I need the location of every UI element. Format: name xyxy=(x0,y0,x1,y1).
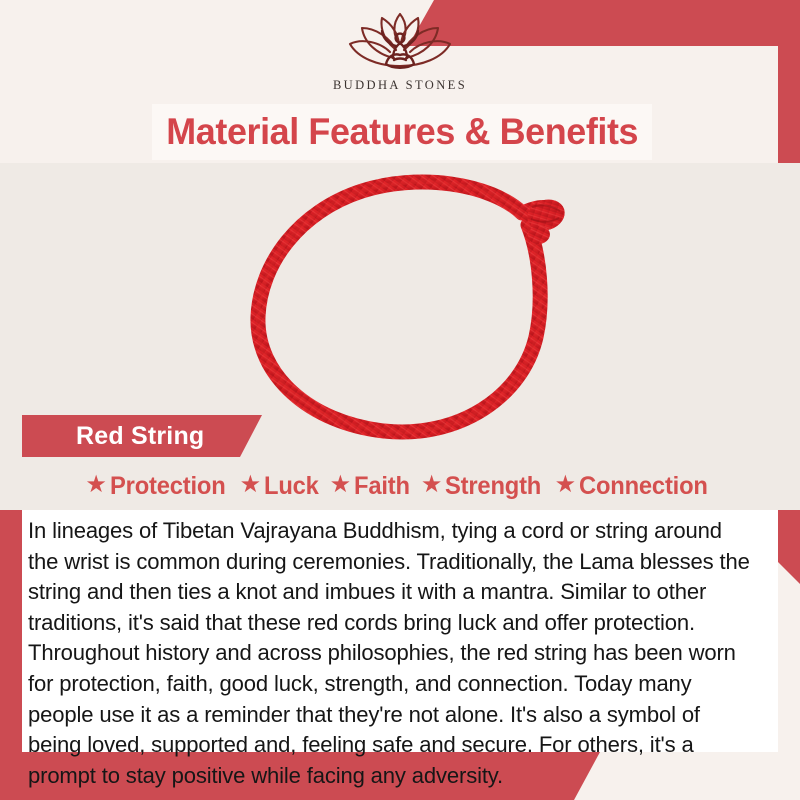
feature-item-luck: ★ Luck xyxy=(236,472,326,501)
description-panel: In lineages of Tibetan Vajrayana Buddhis… xyxy=(22,510,778,752)
feature-list: ★ Protection ★ Luck ★ Faith ★ Strength ★… xyxy=(22,466,778,506)
feature-label: Faith xyxy=(354,472,410,501)
description-paragraph: In lineages of Tibetan Vajrayana Buddhis… xyxy=(28,516,757,791)
product-photo-panel xyxy=(0,163,800,510)
feature-item-protection: ★ Protection xyxy=(81,472,235,501)
product-ribbon-label: Red String xyxy=(22,415,262,457)
infographic-page: BUDDHA STONES Material Features & Benefi… xyxy=(0,0,800,800)
feature-item-connection: ★ Connection xyxy=(551,472,719,501)
star-icon: ★ xyxy=(421,473,443,497)
ribbon-label-text: Red String xyxy=(22,422,204,451)
star-icon: ★ xyxy=(240,473,262,497)
star-icon: ★ xyxy=(330,473,352,497)
star-icon: ★ xyxy=(555,473,577,497)
page-title: Material Features & Benefits xyxy=(166,111,638,153)
bracelet-image xyxy=(0,163,800,510)
lotus-meditation-icon xyxy=(338,8,462,76)
star-icon: ★ xyxy=(85,473,107,497)
feature-label: Luck xyxy=(264,472,319,501)
feature-label: Strength xyxy=(445,472,541,501)
feature-label: Connection xyxy=(579,472,708,501)
feature-item-faith: ★ Faith xyxy=(326,472,417,501)
brand-header: BUDDHA STONES xyxy=(0,0,800,108)
brand-name: BUDDHA STONES xyxy=(333,78,467,93)
title-banner: Material Features & Benefits xyxy=(152,104,652,160)
feature-label: Protection xyxy=(110,472,226,501)
red-braided-string-bracelet-icon xyxy=(222,169,590,441)
feature-item-strength: ★ Strength xyxy=(417,472,551,501)
